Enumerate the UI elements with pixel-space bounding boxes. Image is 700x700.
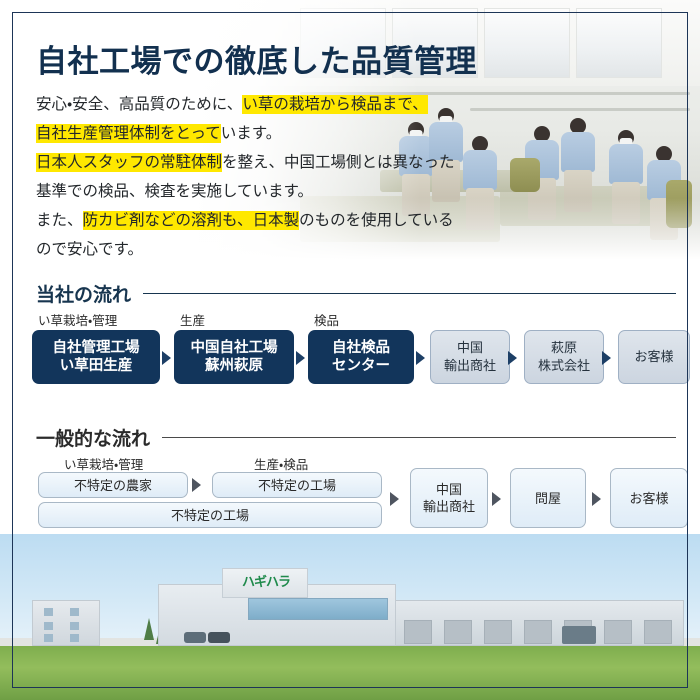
flow-stage-caption: い草栽培・管理	[64, 454, 143, 473]
photo-loading-door	[604, 620, 632, 644]
flow-arrow-icon	[592, 492, 601, 506]
photo-tree	[144, 618, 154, 640]
photo-window	[44, 608, 53, 616]
plain-text: また、	[36, 212, 83, 229]
plain-text: のものを使用している	[299, 212, 454, 229]
flow-stage-caption: 生産	[180, 310, 205, 329]
section-title-text: 当社の流れ	[36, 280, 131, 307]
flow-node-label: 中国	[436, 481, 462, 498]
flow-node: お客様	[610, 468, 688, 528]
flow-node: 不特定の工場	[212, 472, 382, 498]
highlighted-text: い草の栽培から検品まで、	[242, 95, 427, 114]
photo-window	[70, 608, 79, 616]
plain-text: ので安心です。	[36, 241, 143, 258]
flow-arrow-icon	[416, 351, 425, 365]
flow-node: 不特定の工場	[38, 502, 382, 528]
flow-node-label: 輸出商社	[423, 498, 475, 515]
photo-car	[208, 632, 230, 643]
body-line: 基準での検品、検査を実施しています。	[36, 177, 556, 206]
flow-node-label: 中国	[457, 339, 483, 357]
photo-loading-door	[484, 620, 512, 644]
flow-node-label: 蘇州萩原	[205, 357, 263, 375]
section-heading-general-flow: 一般的な流れ	[36, 424, 676, 451]
flow-node-label: 自社管理工場	[53, 339, 140, 357]
flow-arrow-icon	[508, 351, 517, 365]
flow-node-label: 萩原	[551, 339, 577, 357]
photo-window	[484, 8, 570, 78]
photo-office-block	[32, 600, 100, 646]
photo-loading-door	[524, 620, 552, 644]
highlighted-text: 自社生産管理体制をとって	[36, 124, 221, 143]
flow-node: 中国輸出商社	[410, 468, 488, 528]
photo-lawn	[0, 646, 700, 700]
section-divider-line	[162, 437, 676, 439]
flow-stage-caption: 検品	[314, 310, 339, 329]
photo-truck	[562, 626, 596, 644]
plain-text: います。	[221, 125, 281, 142]
plain-text: 安心・安全、高品質のために、	[36, 96, 242, 113]
photo-window	[576, 8, 662, 78]
body-line: 日本人スタッフの常駐体制を整え、中国工場側とは異なった	[36, 148, 556, 177]
flow-node-label: い草田生産	[60, 357, 133, 375]
section-divider-line	[143, 293, 676, 295]
section-heading-our-flow: 当社の流れ	[36, 280, 676, 307]
infographic-page: 自社工場での徹底した品質管理 安心・安全、高品質のために、い草の栽培から検品まで…	[0, 0, 700, 700]
flow-node-label: 問屋	[535, 490, 561, 507]
hagihara-plant-photo: ハギハラ	[0, 534, 700, 700]
photo-loading-door	[644, 620, 672, 644]
flow-stage-caption: 生産・検品	[254, 454, 308, 473]
flow-node-label: お客様	[629, 490, 668, 507]
plain-text: 基準での検品、検査を実施しています。	[36, 183, 313, 200]
our-flow-diagram: い草栽培・管理生産検品自社管理工場い草田生産中国自社工場蘇州萩原自社検品センター…	[32, 310, 672, 390]
flow-node-label: 中国自社工場	[191, 339, 278, 357]
flow-node-label: お客様	[634, 348, 673, 366]
photo-window	[70, 634, 79, 642]
photo-car	[184, 632, 206, 643]
photo-window	[44, 622, 53, 630]
flow-node-label: 自社検品	[332, 339, 390, 357]
flow-node-label: センター	[332, 357, 390, 375]
photo-window	[44, 634, 53, 642]
body-line: 安心・安全、高品質のために、い草の栽培から検品まで、	[36, 90, 556, 119]
flow-node: 不特定の農家	[38, 472, 188, 498]
flow-stage-caption: い草栽培・管理	[38, 310, 117, 329]
building-sign-text: ハギハラ	[232, 574, 300, 590]
general-flow-diagram: い草栽培・管理生産・検品不特定の農家不特定の工場不特定の工場中国輸出商社問屋お客…	[32, 454, 672, 532]
flow-arrow-icon	[492, 492, 501, 506]
photo-loading-door	[444, 620, 472, 644]
plain-text: を整え、中国工場側とは異なった	[222, 154, 455, 171]
body-line: また、防カビ剤などの溶剤も、日本製のものを使用している	[36, 206, 556, 235]
page-title: 自社工場での徹底した品質管理	[36, 36, 477, 81]
flow-node: 中国輸出商社	[430, 330, 510, 384]
photo-glass-facade	[248, 598, 388, 620]
body-line: 自社生産管理体制をとっています。	[36, 119, 556, 148]
flow-arrow-icon	[162, 351, 171, 365]
highlighted-text: 日本製	[253, 211, 300, 230]
flow-node-label: 不特定の農家	[74, 477, 152, 494]
flow-node: 萩原株式会社	[524, 330, 604, 384]
flow-node: お客様	[618, 330, 690, 384]
photo-window	[70, 622, 79, 630]
flow-arrow-icon	[296, 351, 305, 365]
flow-node-label: 株式会社	[538, 357, 590, 375]
section-title-text: 一般的な流れ	[36, 424, 150, 451]
flow-arrow-icon	[602, 351, 611, 365]
flow-node: 自社管理工場い草田生産	[32, 330, 160, 384]
flow-node: 中国自社工場蘇州萩原	[174, 330, 294, 384]
flow-arrow-icon	[192, 478, 201, 492]
body-line: ので安心です。	[36, 235, 556, 264]
flow-node: 問屋	[510, 468, 586, 528]
body-paragraph: 安心・安全、高品質のために、い草の栽培から検品まで、自社生産管理体制をとっていま…	[36, 90, 556, 264]
highlighted-text: 防カビ剤などの溶剤も、	[83, 211, 253, 230]
flow-arrow-icon	[390, 492, 399, 506]
photo-loading-door	[404, 620, 432, 644]
highlighted-text: 日本人スタッフの常駐体制	[36, 153, 222, 172]
flow-node-label: 不特定の工場	[171, 507, 249, 524]
flow-node-label: 輸出商社	[444, 357, 496, 375]
flow-node-label: 不特定の工場	[258, 477, 336, 494]
flow-node: 自社検品センター	[308, 330, 414, 384]
